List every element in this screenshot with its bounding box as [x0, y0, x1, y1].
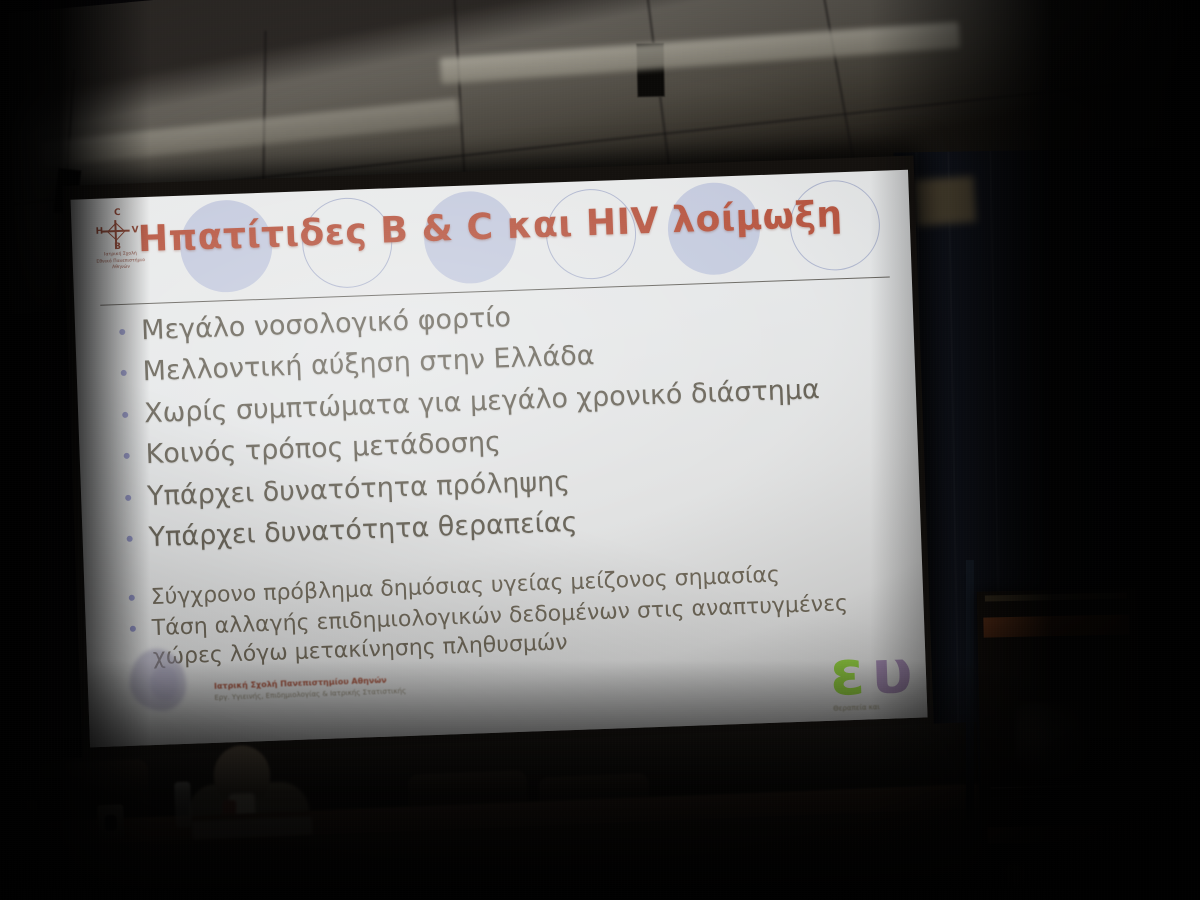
- bullet-text: Μελλοντική αύξηση στην Ελλάδα: [142, 340, 595, 389]
- bullet-text: Υπάρχει δυνατότητα πρόληψης: [147, 466, 571, 514]
- bullet-text: Μεγάλο νοσολογικό φορτίο: [141, 302, 512, 348]
- bullet-text: Υπάρχει δυνατότητα θεραπείας: [148, 507, 578, 555]
- auditorium-photo: C H V B Ιατρική Σχολή Εθνικό Πανεπιστήμι…: [0, 0, 1200, 900]
- slide-paragraph-list: Σύγχρονο πρόβλημα δημόσιας υγείας μείζον…: [128, 555, 927, 675]
- bullet-text: Κοινός τρόπος μετάδοσης: [145, 427, 501, 472]
- shadow-bottom: [0, 660, 1200, 900]
- slide-bullet-list: Μεγάλο νοσολογικό φορτίο Μελλοντική αύξη…: [119, 287, 927, 564]
